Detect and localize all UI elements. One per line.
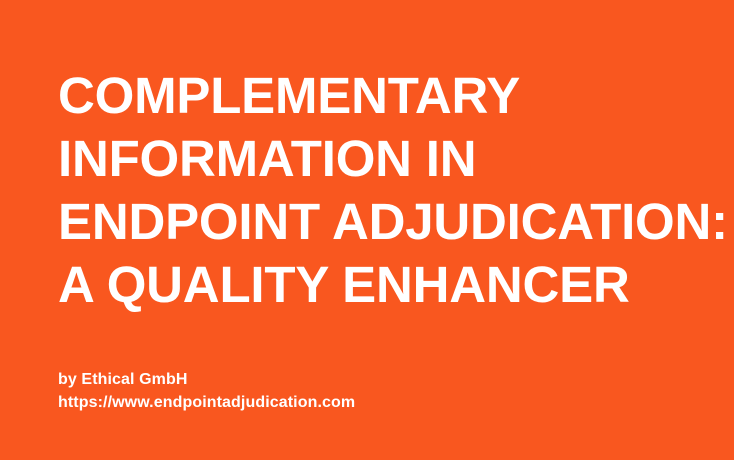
title-slide: COMPLEMENTARY INFORMATION IN ENDPOINT AD…	[0, 0, 734, 460]
website-url[interactable]: https://www.endpointadjudication.com	[58, 391, 678, 414]
title-line-3: ENDPOINT ADJUDICATION:	[58, 190, 724, 253]
title-line-1: COMPLEMENTARY	[58, 64, 724, 127]
title-line-2: INFORMATION IN	[58, 127, 724, 190]
author-byline: by Ethical GmbH	[58, 368, 678, 391]
title-line-4: A QUALITY ENHANCER	[58, 253, 724, 316]
slide-credits: by Ethical GmbH https://www.endpointadju…	[58, 368, 678, 414]
slide-title: COMPLEMENTARY INFORMATION IN ENDPOINT AD…	[58, 64, 724, 316]
